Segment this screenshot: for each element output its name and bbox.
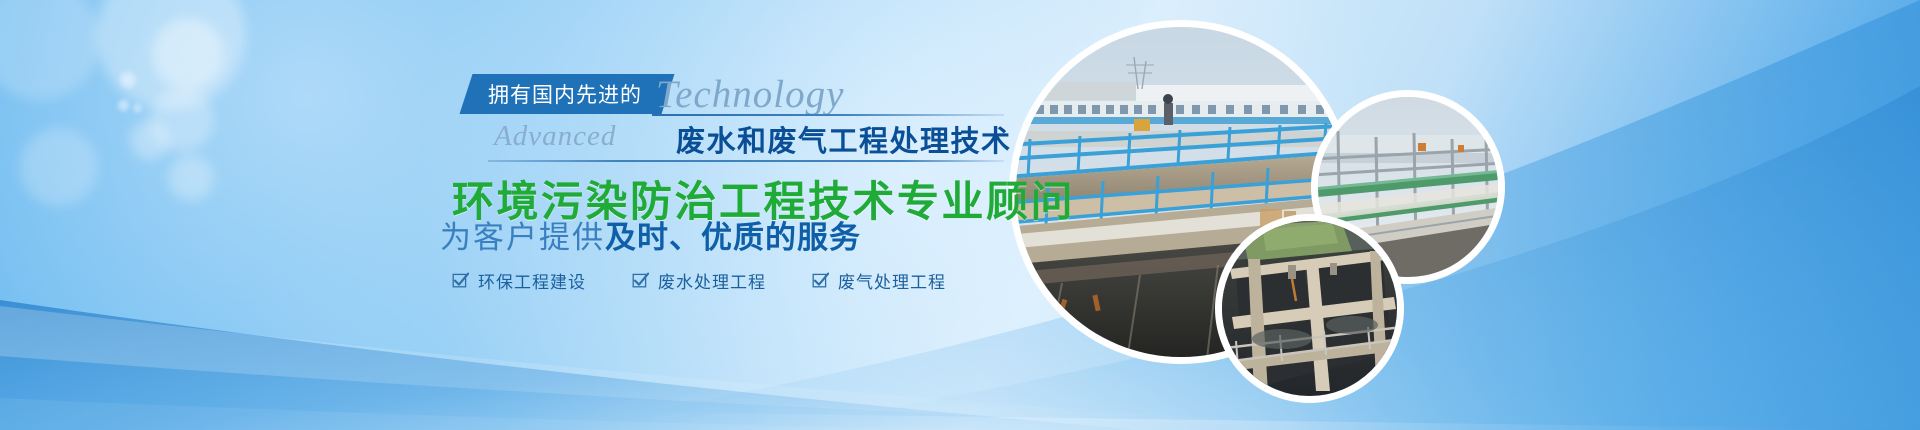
technology-row: 拥有国内先进的 Technology [466,74,946,118]
feature-label: 废水处理工程 [658,268,766,293]
advanced-word: Advanced [494,120,616,153]
feature-label: 环保工程建设 [478,268,586,293]
check-icon [812,272,829,289]
advanced-subtitle: 废水和废气工程处理技术 [676,118,1012,160]
check-icon [632,272,649,289]
subtitle-light: 为客户提供 [440,220,605,255]
feature-item-1[interactable]: 废水处理工程 [632,268,766,293]
advanced-badge: 拥有国内先进的 [460,74,675,114]
feature-list: 环保工程建设 废水处理工程 废气处理工程 [452,268,946,293]
divider-line-bottom [488,160,1004,162]
check-icon [452,272,469,289]
feature-item-0[interactable]: 环保工程建设 [452,268,586,293]
subtitle: 为客户提供及时、优质的服务 [440,212,861,257]
subtitle-bold: 及时、优质的服务 [605,220,861,255]
aeration-tank-photo [1222,221,1397,396]
banner-copy: 拥有国内先进的 Technology Advanced 废水和废气工程处理技术 … [0,0,1010,430]
divider-line-top [652,114,1004,116]
technology-word: Technology [656,72,844,117]
feature-label: 废气处理工程 [838,268,946,293]
feature-item-2[interactable]: 废气处理工程 [812,268,946,293]
advanced-row: Advanced 废水和废气工程处理技术 [466,120,966,162]
promo-banner: 拥有国内先进的 Technology Advanced 废水和废气工程处理技术 … [0,0,1920,430]
advanced-badge-label: 拥有国内先进的 [488,79,642,109]
